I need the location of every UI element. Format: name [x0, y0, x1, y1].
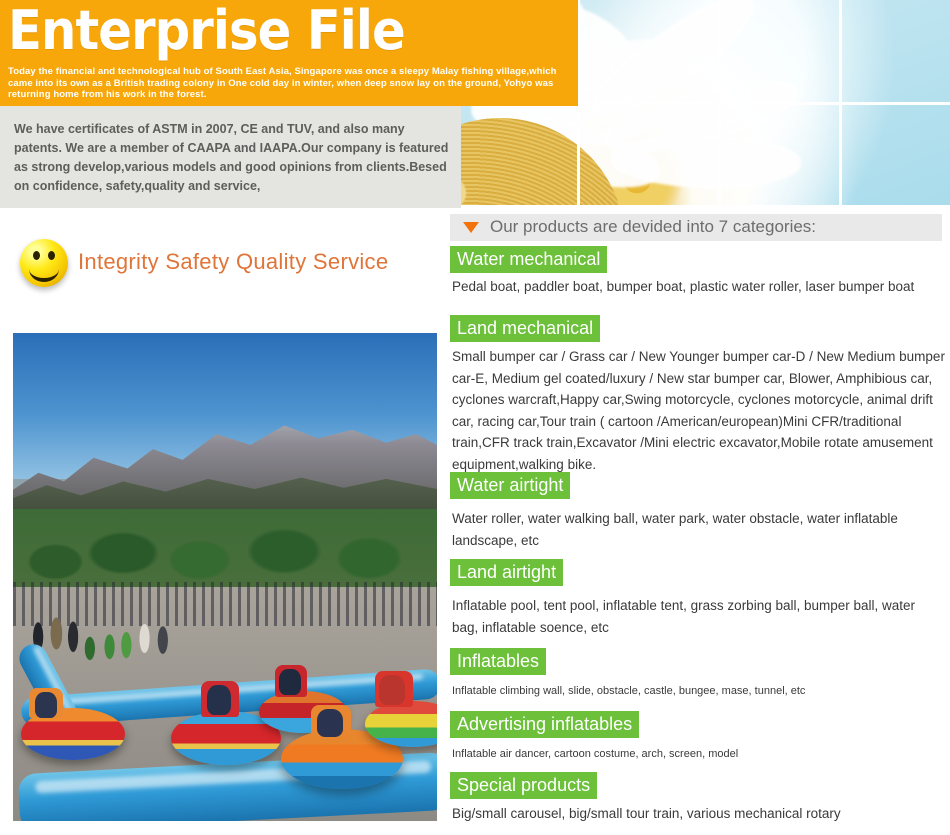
category-badge[interactable]: Inflatables: [450, 648, 546, 675]
category-block: Land mechanical Small bumper car / Grass…: [450, 315, 947, 475]
category-description: Pedal boat, paddler boat, bumper boat, p…: [450, 277, 940, 297]
category-badge[interactable]: Land mechanical: [450, 315, 600, 342]
products-panel-title: Our products are devided into 7 categori…: [490, 217, 816, 237]
page-root: Enterprise File Today the financial and …: [0, 0, 950, 835]
category-block: Water mechanical Pedal boat, paddler boa…: [450, 246, 947, 297]
category-badge[interactable]: Water mechanical: [450, 246, 607, 273]
slogan-text: Integrity Safety Quality Service: [78, 249, 388, 275]
category-description: Water roller, water walking ball, water …: [450, 508, 922, 552]
products-panel: Our products are devided into 7 categori…: [447, 214, 950, 835]
category-badge[interactable]: Advertising inflatables: [450, 711, 639, 738]
banner-subtitle: Today the financial and technological hu…: [8, 66, 568, 101]
category-description: Inflatable climbing wall, slide, obstacl…: [450, 682, 922, 700]
smiley-mouth: [29, 256, 59, 282]
category-badge[interactable]: Special products: [450, 772, 597, 799]
bumper-car: [21, 708, 125, 760]
category-description: Big/small carousel, big/small tour train…: [450, 804, 942, 824]
products-panel-header: Our products are devided into 7 categori…: [450, 214, 942, 241]
category-block: Water airtight Water roller, water walki…: [450, 472, 947, 552]
page-title: Enterprise File: [8, 1, 405, 61]
category-block: Land airtight Inflatable pool, tent pool…: [450, 559, 947, 639]
category-block: Inflatables Inflatable climbing wall, sl…: [450, 648, 947, 700]
bumper-boat-photo: [13, 333, 437, 821]
category-badge[interactable]: Water airtight: [450, 472, 570, 499]
certificates-block: We have certificates of ASTM in 2007, CE…: [0, 106, 461, 208]
bumper-car-rider: [207, 685, 231, 715]
category-description: Inflatable air dancer, cartoon costume, …: [450, 745, 922, 763]
category-description: Inflatable pool, tent pool, inflatable t…: [450, 595, 932, 639]
category-description: Small bumper car / Grass car / New Young…: [450, 346, 948, 475]
category-block: Special products Big/small carousel, big…: [450, 772, 947, 824]
header-banner: Enterprise File Today the financial and …: [0, 0, 578, 106]
bumper-car-rider: [279, 669, 301, 695]
certificates-text: We have certificates of ASTM in 2007, CE…: [14, 120, 454, 196]
smiley-face-icon: [20, 239, 68, 287]
bumper-car-rider: [317, 709, 343, 737]
slogan-row: Integrity Safety Quality Service: [0, 236, 445, 294]
bumper-car-rider: [379, 675, 405, 705]
category-badge[interactable]: Land airtight: [450, 559, 563, 586]
triangle-down-icon: [463, 222, 479, 233]
bumper-car-rider: [35, 692, 57, 718]
mosaic-gridline: [461, 205, 950, 208]
category-block: Advertising inflatables Inflatable air d…: [450, 711, 947, 763]
